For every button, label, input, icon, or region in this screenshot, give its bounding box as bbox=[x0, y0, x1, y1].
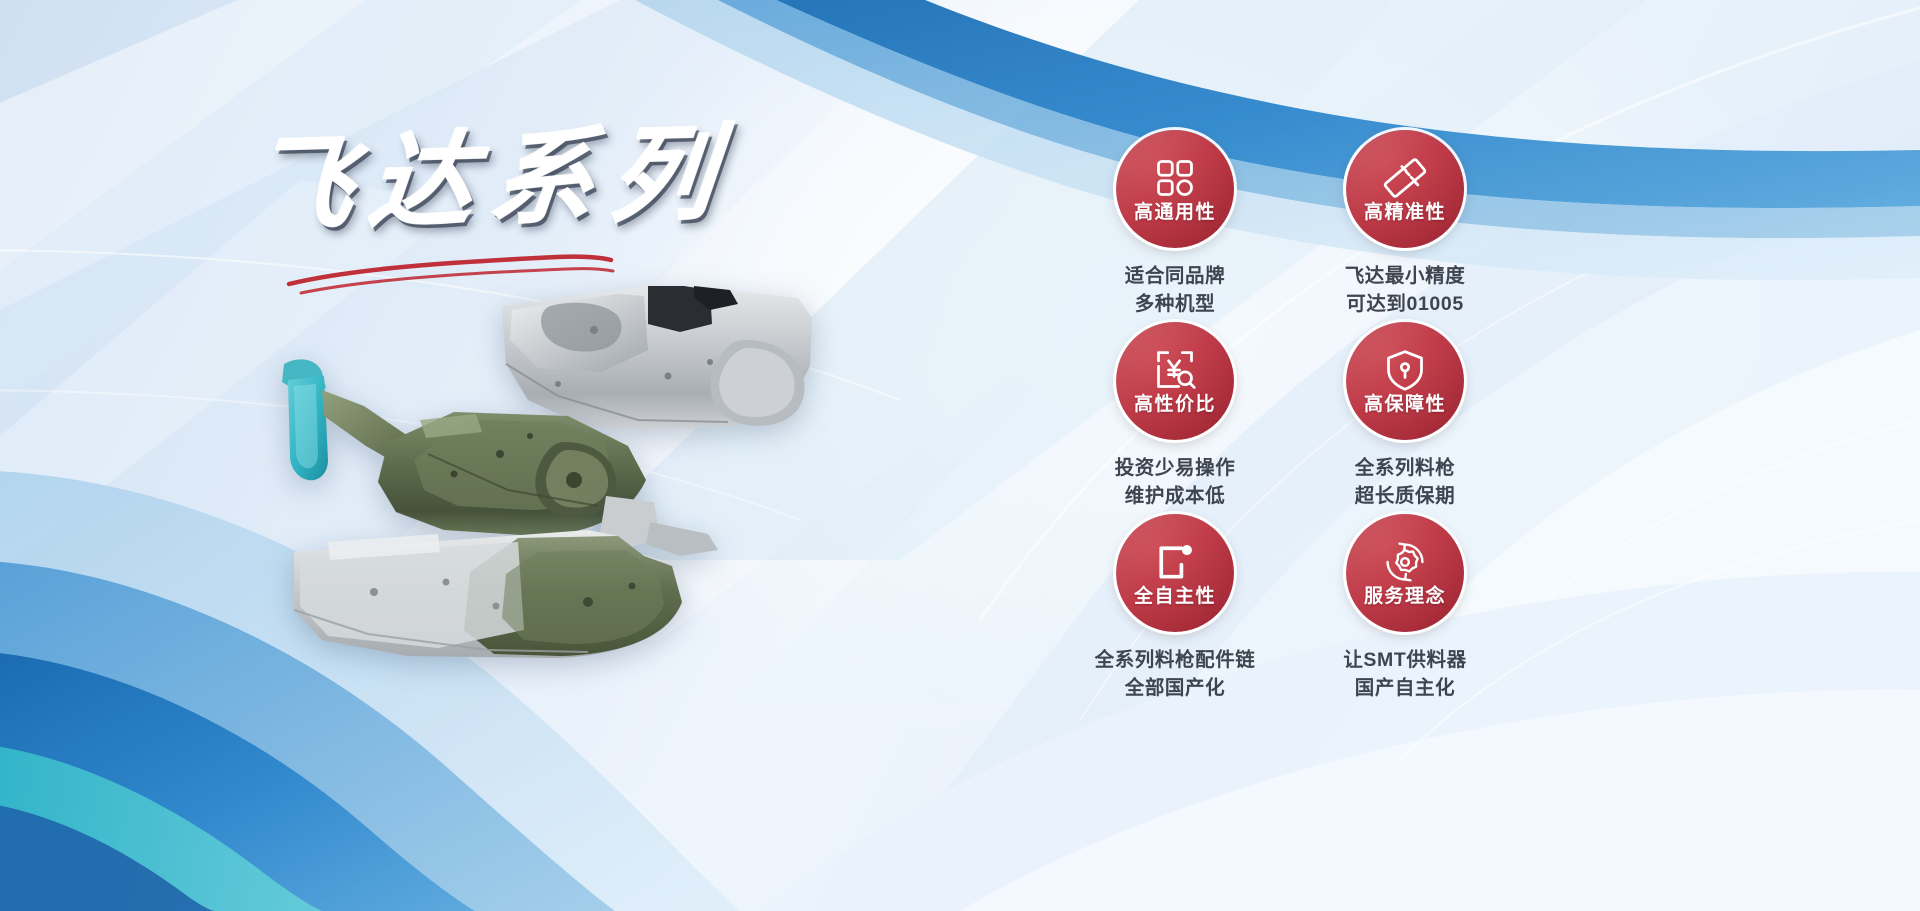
feature-label: 高精准性 bbox=[1364, 203, 1446, 222]
promo-banner: 飞达系列 bbox=[0, 0, 1920, 911]
feature-caption: 投资少易操作 维护成本低 bbox=[1080, 454, 1270, 511]
feature-label: 高保障性 bbox=[1364, 395, 1446, 414]
yen-document-search-icon bbox=[1153, 348, 1197, 392]
shield-lock-icon bbox=[1383, 348, 1427, 392]
feature-badge[interactable]: 高性价比 bbox=[1116, 322, 1234, 440]
feature-label: 高性价比 bbox=[1134, 395, 1216, 414]
feature-grid: 高通用性 适合同品牌 多种机型 高精准性 bbox=[1080, 130, 1500, 720]
caption-line-2: 可达到01005 bbox=[1310, 290, 1500, 318]
feature-badge[interactable]: 高通用性 bbox=[1116, 130, 1234, 248]
feature-item-cost-effective[interactable]: 高性价比 投资少易操作 维护成本低 bbox=[1080, 322, 1270, 514]
feature-item-service-philosophy[interactable]: 服务理念 让SMT供料器 国产自主化 bbox=[1310, 514, 1500, 706]
feature-item-full-autonomy[interactable]: 全自主性 全系列料枪配件链 全部国产化 bbox=[1080, 514, 1270, 706]
bracket-dot-icon bbox=[1153, 540, 1197, 584]
caption-line-1: 适合同品牌 bbox=[1080, 262, 1270, 290]
caption-line-1: 飞达最小精度 bbox=[1310, 262, 1500, 290]
feature-badge[interactable]: 高保障性 bbox=[1346, 322, 1464, 440]
caption-line-1: 投资少易操作 bbox=[1080, 454, 1270, 482]
feature-badge[interactable]: 高精准性 bbox=[1346, 130, 1464, 248]
feature-label: 全自主性 bbox=[1134, 587, 1216, 606]
caption-line-1: 让SMT供料器 bbox=[1310, 646, 1500, 674]
feature-caption: 适合同品牌 多种机型 bbox=[1080, 262, 1270, 319]
feature-label: 高通用性 bbox=[1134, 203, 1216, 222]
feature-label: 服务理念 bbox=[1364, 587, 1446, 606]
feature-caption: 全系列料枪 超长质保期 bbox=[1310, 454, 1500, 511]
caption-line-2: 全部国产化 bbox=[1080, 674, 1270, 702]
caption-line-2: 多种机型 bbox=[1080, 290, 1270, 318]
caption-line-2: 维护成本低 bbox=[1080, 482, 1270, 510]
caption-line-1: 全系列料枪配件链 bbox=[1080, 646, 1270, 674]
product-photo-group bbox=[240, 270, 920, 710]
gear-refresh-icon bbox=[1383, 540, 1427, 584]
feature-item-high-precision[interactable]: 高精准性 飞达最小精度 可达到01005 bbox=[1310, 130, 1500, 322]
caption-line-2: 超长质保期 bbox=[1310, 482, 1500, 510]
caption-line-1: 全系列料枪 bbox=[1310, 454, 1500, 482]
feature-caption: 让SMT供料器 国产自主化 bbox=[1310, 646, 1500, 703]
caption-line-2: 国产自主化 bbox=[1310, 674, 1500, 702]
feature-item-high-warranty[interactable]: 高保障性 全系列料枪 超长质保期 bbox=[1310, 322, 1500, 514]
feature-badge[interactable]: 全自主性 bbox=[1116, 514, 1234, 632]
feature-caption: 飞达最小精度 可达到01005 bbox=[1310, 262, 1500, 319]
grid-squares-icon bbox=[1153, 156, 1197, 200]
smt-feeder-green-bottom bbox=[288, 490, 748, 680]
feature-badge[interactable]: 服务理念 bbox=[1346, 514, 1464, 632]
feature-item-high-versatility[interactable]: 高通用性 适合同品牌 多种机型 bbox=[1080, 130, 1270, 322]
ruler-icon bbox=[1383, 156, 1427, 200]
page-title: 飞达系列 bbox=[243, 111, 776, 248]
feature-caption: 全系列料枪配件链 全部国产化 bbox=[1080, 646, 1270, 703]
